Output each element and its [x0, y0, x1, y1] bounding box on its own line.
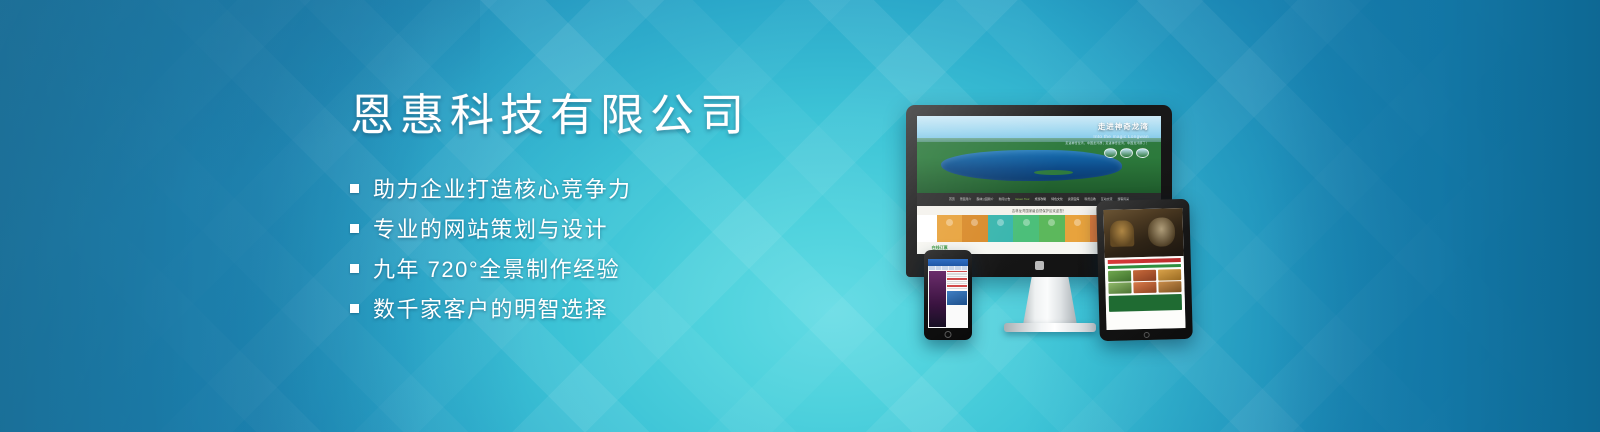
grid-photo	[1158, 281, 1182, 293]
hero-subtitle: Into the magic Longwan	[1065, 134, 1148, 139]
article-line	[947, 273, 967, 274]
service-card-icon	[971, 219, 978, 226]
earpiece-icon	[942, 254, 954, 256]
grid-photo	[1133, 282, 1157, 294]
tab-cell	[962, 266, 968, 270]
grid-photo	[1108, 270, 1132, 282]
banner-copy-block: 恩惠科技有限公司 助力企业打造核心竞争力 专业的网站策划与设计 九年 720°全…	[350, 92, 870, 328]
bubble-thumb	[1136, 148, 1149, 158]
tablet-photo-grid	[1108, 269, 1182, 294]
service-card-icon	[1048, 219, 1055, 226]
article-line	[947, 271, 967, 272]
tablet-site-nav-bar	[1108, 264, 1181, 269]
service-card-icon	[1023, 219, 1030, 226]
grid-photo	[1158, 269, 1182, 281]
nav-item: 景区简介	[960, 197, 972, 201]
company-title: 恩惠科技有限公司	[350, 92, 870, 140]
article-line	[947, 281, 967, 282]
background-right-shade	[1270, 0, 1600, 432]
home-button-icon	[945, 331, 952, 338]
nav-item: 科普宣教	[1084, 197, 1096, 201]
tablet-footer-block	[1109, 294, 1182, 312]
article-line	[947, 278, 967, 279]
nav-item: Green Tour	[1015, 197, 1029, 201]
phone-article-list	[947, 271, 967, 327]
service-card	[962, 215, 988, 241]
square-bullet-icon	[350, 304, 359, 313]
tablet-screen	[1103, 208, 1185, 330]
device-mockup-cluster: 走进神奇龙湾 Into the magic Longwan 走进神奇龙湾，中国龙…	[900, 95, 1200, 345]
grid-photo	[1108, 282, 1132, 294]
list-item: 专业的网站策划与设计	[350, 208, 870, 248]
service-card-icon	[946, 219, 953, 226]
feature-text: 专业的网站策划与设计	[373, 212, 608, 244]
nav-item: 资源宝库	[1068, 197, 1080, 201]
list-item: 助力企业打造核心竞争力	[350, 168, 870, 208]
tablet-site-body	[1105, 256, 1186, 330]
hero-thumbnail-bubbles	[1104, 148, 1149, 158]
service-card	[937, 215, 963, 241]
tablet-hero-photo	[1103, 208, 1183, 258]
notice-text: 吉林龙湾国家级自然保护区欢迎您！	[1012, 208, 1066, 213]
nav-item: 旅游攻略	[1035, 197, 1047, 201]
phone-site-tabs	[928, 266, 968, 270]
article-line	[947, 276, 967, 277]
phone-poster-image	[929, 271, 946, 327]
feature-text: 九年 720°全景制作经验	[373, 252, 620, 284]
service-card	[1013, 215, 1039, 241]
tab-cell	[929, 266, 935, 270]
bubble-thumb	[1120, 148, 1133, 158]
article-line	[947, 283, 967, 284]
smartphone-device	[924, 250, 972, 340]
home-button-icon	[1143, 331, 1149, 337]
hero-title: 走进神奇龙湾	[1065, 121, 1148, 132]
service-card	[988, 215, 1014, 241]
nav-item: 森林公园简介	[976, 197, 993, 201]
nav-item: 新闻公告	[999, 197, 1011, 201]
site-hero-banner: 走进神奇龙湾 Into the magic Longwan 走进神奇龙湾，中国龙…	[917, 116, 1161, 193]
article-line	[947, 288, 967, 289]
nav-item: 首页	[949, 197, 955, 201]
nav-item: 特色文化	[1051, 197, 1063, 201]
hero-text-group: 走进神奇龙湾 Into the magic Longwan 走进神奇龙湾，中国龙…	[1065, 121, 1148, 145]
phone-site-body	[928, 270, 968, 328]
square-bullet-icon	[350, 184, 359, 193]
hero-banner: 恩惠科技有限公司 助力企业打造核心竞争力 专业的网站策划与设计 九年 720°全…	[0, 0, 1600, 432]
phone-site-header	[928, 259, 968, 266]
feature-list: 助力企业打造核心竞争力 专业的网站策划与设计 九年 720°全景制作经验 数千家…	[350, 168, 870, 328]
service-card	[1039, 215, 1065, 241]
feature-text: 数千家客户的明智选择	[373, 292, 608, 324]
phone-screen	[928, 259, 968, 328]
list-item: 数千家客户的明智选择	[350, 288, 870, 328]
monitor-stand-neck	[1023, 277, 1077, 325]
hero-tagline: 走进神奇龙湾，中国龙湾群；走进神奇龙湾，中国龙湾醉了！	[1065, 141, 1148, 145]
tablet-device	[1096, 199, 1193, 341]
tab-cell	[942, 266, 948, 270]
tab-cell	[955, 266, 961, 270]
square-bullet-icon	[350, 224, 359, 233]
monitor-stand-base	[1004, 323, 1096, 332]
service-card-icon	[997, 219, 1004, 226]
grid-photo	[1133, 269, 1157, 281]
list-item: 九年 720°全景制作经验	[350, 248, 870, 288]
article-line	[947, 285, 967, 286]
tab-cell	[949, 266, 955, 270]
square-bullet-icon	[350, 264, 359, 273]
brand-logo-icon	[1035, 261, 1044, 270]
service-card-icon	[1074, 219, 1081, 226]
tab-cell	[936, 266, 942, 270]
bubble-thumb	[1104, 148, 1117, 158]
service-card	[1065, 215, 1091, 241]
feature-text: 助力企业打造核心竞争力	[373, 172, 632, 204]
hero-lake	[941, 150, 1122, 181]
phone-thumb-image	[947, 291, 967, 305]
